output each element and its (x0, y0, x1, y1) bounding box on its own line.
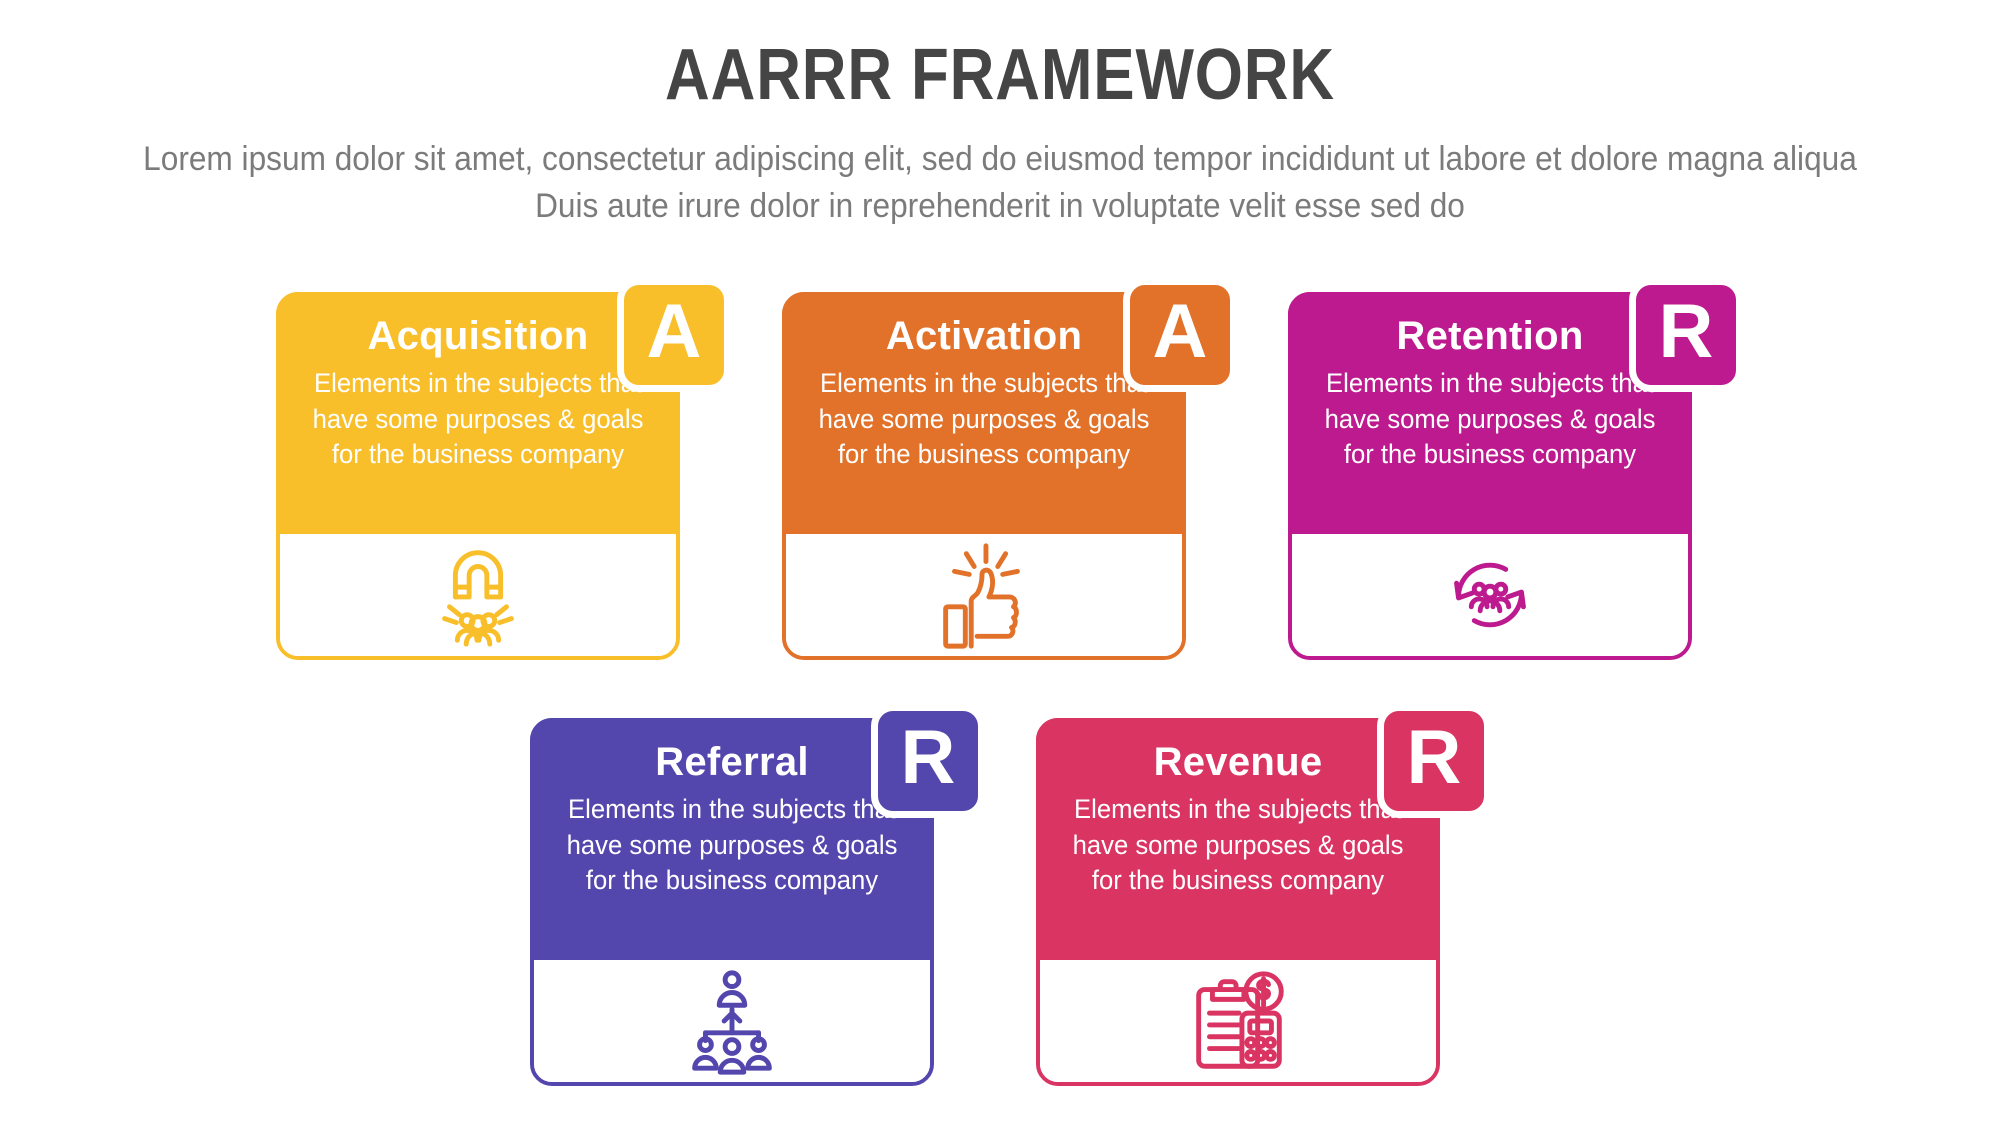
card-description: Elements in the subjects that have some … (303, 366, 653, 473)
header: AARRR FRAMEWORK Lorem ipsum dolor sit am… (0, 38, 2000, 229)
card-title: Activation (800, 314, 1168, 358)
card-icon-area (1040, 960, 1436, 1082)
card-icon-area (280, 534, 676, 656)
page-subtitle: Lorem ipsum dolor sit amet, consectetur … (135, 136, 1865, 230)
people-refresh-cycle-icon (1431, 536, 1549, 654)
badge-letter: A (1153, 294, 1208, 370)
card-description: Elements in the subjects that have some … (1063, 792, 1413, 899)
badge-acquisition: A (617, 278, 731, 392)
badge-letter: R (1659, 294, 1714, 370)
card-title: Revenue (1054, 740, 1422, 784)
infographic-canvas: AARRR FRAMEWORK Lorem ipsum dolor sit am… (0, 0, 2000, 1125)
card-description: Elements in the subjects that have some … (809, 366, 1159, 473)
card-title: Referral (548, 740, 916, 784)
card-description: Elements in the subjects that have some … (1315, 366, 1665, 473)
badge-letter: A (647, 294, 702, 370)
thumbs-up-icon (925, 536, 1043, 654)
clipboard-calculator-dollar-icon (1179, 962, 1297, 1080)
badge-letter: R (901, 720, 956, 796)
people-network-hierarchy-icon (673, 962, 791, 1080)
badge-referral: R (871, 704, 985, 818)
badge-revenue: R (1377, 704, 1491, 818)
card-description: Elements in the subjects that have some … (557, 792, 907, 899)
card-title: Retention (1306, 314, 1674, 358)
card-title: Acquisition (294, 314, 662, 358)
card-icon-area (786, 534, 1182, 656)
card-icon-area (1292, 534, 1688, 656)
badge-activation: A (1123, 278, 1237, 392)
badge-letter: R (1407, 720, 1462, 796)
magnet-attract-people-icon (419, 536, 537, 654)
page-title: AARRR FRAMEWORK (140, 38, 1860, 114)
badge-retention: R (1629, 278, 1743, 392)
card-icon-area (534, 960, 930, 1082)
